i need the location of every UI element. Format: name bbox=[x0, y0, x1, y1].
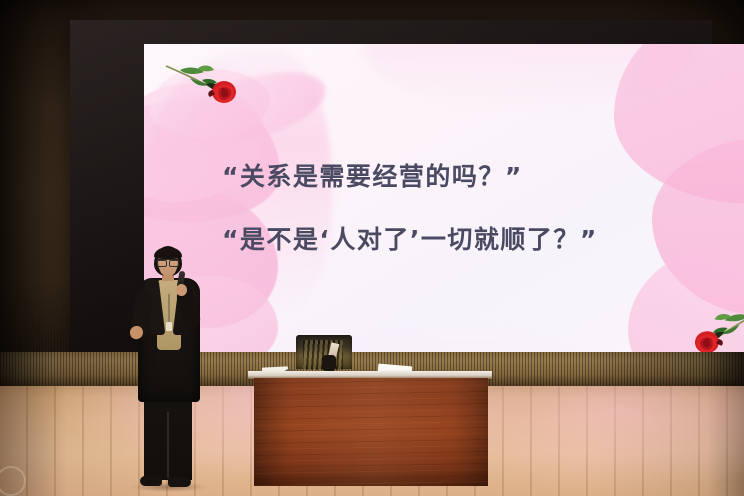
slide-line-1: “关系是需要经营的吗？” bbox=[222, 164, 722, 189]
badge-icon bbox=[166, 322, 172, 331]
podium-shading bbox=[254, 378, 488, 486]
chair-dark-object bbox=[322, 355, 336, 371]
slide-line-2: “是不是‘人对了’一切就顺了？” bbox=[222, 227, 722, 252]
badge-lanyard-icon bbox=[168, 294, 170, 322]
presentation-scene: “关系是需要经营的吗？” “是不是‘人对了’一切就顺了？” bbox=[0, 0, 744, 496]
rose-icon bbox=[164, 58, 240, 110]
slide-text-block: “关系是需要经营的吗？” “是不是‘人对了’一切就顺了？” bbox=[222, 164, 722, 252]
presenter-leg-seam bbox=[167, 412, 169, 478]
presenter bbox=[116, 246, 212, 492]
glasses-icon bbox=[157, 259, 179, 266]
presentation-screen[interactable]: “关系是需要经营的吗？” “是不是‘人对了’一切就顺了？” bbox=[144, 44, 744, 373]
presenter-hand-right bbox=[176, 284, 187, 296]
presenter-shoe-right bbox=[168, 477, 191, 487]
presenter-hair-front bbox=[154, 247, 182, 259]
presenter-shoe-left bbox=[140, 476, 162, 486]
